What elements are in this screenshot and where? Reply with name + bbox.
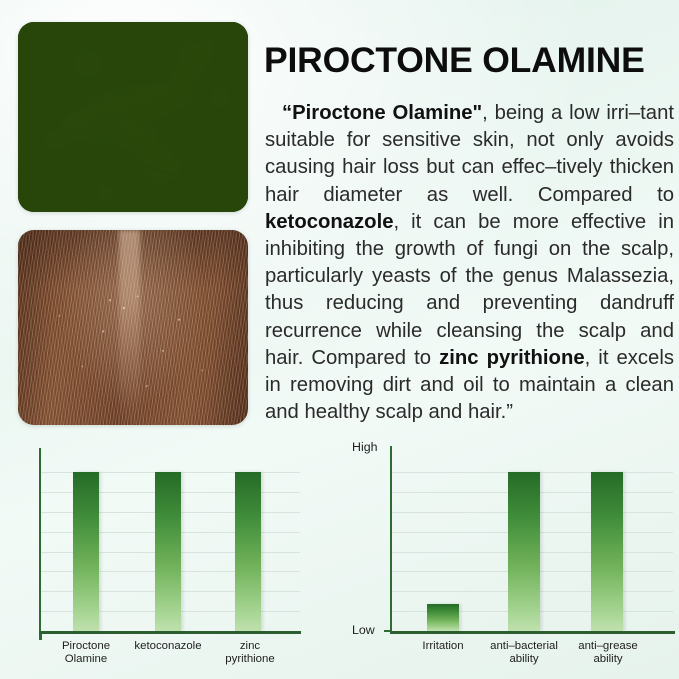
- bar-zinc-pyrithione: [235, 472, 261, 631]
- x-axis-line: [39, 631, 301, 634]
- y-axis-low-label: Low: [352, 623, 375, 637]
- infographic-page: PIROCTONE OLAMINE “Piroctone Olamine", b…: [0, 0, 679, 679]
- bar-irritation: [427, 604, 459, 631]
- plot-area: Piroctone Olamine ketoconazole zinc pyri…: [0, 436, 340, 679]
- y-axis-high-label: High: [352, 440, 377, 454]
- x-axis-line: [390, 631, 675, 634]
- x-axis-label-anti-bacterial: anti–bacterial ability: [481, 640, 567, 667]
- chart-performance: High Low Irritation anti–bacterial abili…: [340, 436, 679, 679]
- bar-anti-bacterial-ability: [508, 472, 540, 631]
- bar-anti-grease-ability: [591, 472, 623, 631]
- bacteria-texture: [18, 22, 248, 212]
- x-axis-label-irritation: Irritation: [403, 640, 483, 653]
- bar-piroctone-olamine: [73, 472, 99, 631]
- y-axis-line: [390, 446, 392, 633]
- bacteria-microscopy-image: [18, 22, 248, 212]
- x-axis-label-zinc-pyrithione: zinc pyrithione: [210, 640, 290, 667]
- plot-area: High Low Irritation anti–bacterial abili…: [340, 436, 679, 679]
- dandruff-flakes: [18, 230, 248, 425]
- x-axis-label-anti-grease: anti–grease ability: [568, 640, 648, 667]
- y-axis-tick-low: [384, 630, 391, 632]
- x-axis-tick: [39, 634, 42, 640]
- page-title: PIROCTONE OLAMINE: [264, 43, 674, 79]
- chart-raw-material: Piroctone Olamine ketoconazole zinc pyri…: [0, 436, 340, 679]
- body-emphasis: “Piroctone Olamine": [282, 102, 482, 124]
- x-axis-label-piroctone-olamine: Piroctone Olamine: [46, 640, 126, 667]
- body-emphasis: zinc pyrithione: [439, 347, 585, 369]
- y-axis-line: [39, 448, 41, 633]
- body-text: , it can be more effective in inhibiting…: [265, 211, 674, 369]
- bar-ketoconazole: [155, 472, 181, 631]
- scalp-dandruff-image: [18, 230, 248, 425]
- body-paragraph: “Piroctone Olamine", being a low irri–ta…: [265, 100, 674, 426]
- body-emphasis: ketoconazole: [265, 211, 393, 233]
- x-axis-label-ketoconazole: ketoconazole: [128, 640, 208, 653]
